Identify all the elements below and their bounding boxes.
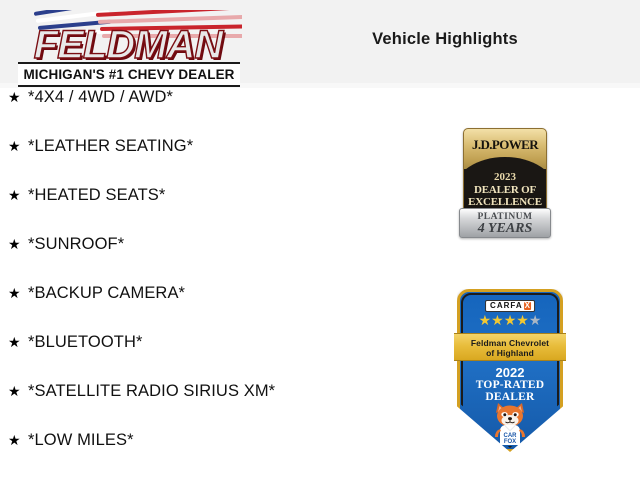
jdpower-award-badge: J.D.POWER 2023 DEALER OF EXCELLENCE PLAT… [459,128,549,236]
jdpower-plaque: J.D.POWER 2023 DEALER OF EXCELLENCE [463,128,547,218]
carfax-star-rating: ★★★★★ [457,313,563,327]
jdpower-year: 2023 [464,171,546,183]
list-item: ★ *SATELLITE RADIO SIRIUS XM* [0,382,400,431]
jdpower-brand-label: J.D.POWER [464,137,546,153]
list-item-label: *LOW MILES* [28,431,134,450]
star-icon: ★ [8,188,28,202]
star-icon: ★ [8,286,28,300]
star-icon: ★ [504,312,517,328]
star-icon: ★ [8,384,28,398]
carfax-year: 2022 [457,365,563,380]
star-icon-dim: ★ [529,312,542,328]
dealer-logo[interactable]: FELDMAN MICHIGAN'S #1 CHEVY DEALER [12,4,244,84]
star-icon: ★ [8,139,28,153]
carfax-dealer-name-line-1: Feldman Chevrolet [454,338,566,348]
list-item-label: *LEATHER SEATING* [28,137,193,156]
page-title: Vehicle Highlights [300,30,590,49]
star-icon: ★ [8,335,28,349]
list-item: ★ *4X4 / 4WD / AWD* [0,88,400,137]
star-icon: ★ [479,312,492,328]
list-item-label: *HEATED SEATS* [28,186,165,205]
jdpower-pedestal: PLATINUM 4 YEARS [459,208,551,238]
dealer-logo-tagline-bar: MICHIGAN'S #1 CHEVY DEALER [18,62,240,87]
list-item: ★ *HEATED SEATS* [0,186,400,235]
carfax-dealer-name-line-2: of Highland [454,348,566,358]
svg-text:FOX: FOX [504,439,516,445]
list-item: ★ *LEATHER SEATING* [0,137,400,186]
jdpower-award-line-1: DEALER OF [464,184,546,196]
carfax-logo: CARFA X [485,300,535,312]
jdpower-duration-label: 4 YEARS [460,221,550,237]
jdpower-award-line-2: EXCELLENCE [464,196,546,208]
dealer-logo-wordmark: FELDMAN [12,23,244,67]
carfax-logo-text: CARFA [490,302,523,310]
carfax-logo-accent: X [524,302,531,310]
vehicle-highlights-list: ★ *4X4 / 4WD / AWD* ★ *LEATHER SEATING* … [0,88,400,480]
carfax-top-rated-dealer-badge: CARFA X ★★★★★ Feldman Chevrolet of Highl… [457,289,563,452]
star-icon: ★ [8,433,28,447]
list-item: ★ *SUNROOF* [0,235,400,284]
carfax-award-line-1: TOP-RATED [457,379,563,391]
star-icon: ★ [8,237,28,251]
list-item-label: *BACKUP CAMERA* [28,284,185,303]
star-icon: ★ [516,312,529,328]
carfax-dealer-ribbon: Feldman Chevrolet of Highland [454,333,566,361]
list-item-label: *SATELLITE RADIO SIRIUS XM* [28,382,275,401]
list-item: ★ *BACKUP CAMERA* [0,284,400,333]
list-item-label: *SUNROOF* [28,235,124,254]
list-item-label: *BLUETOOTH* [28,333,143,352]
dealer-logo-tagline: MICHIGAN'S #1 CHEVY DEALER [23,67,234,82]
list-item: ★ *LOW MILES* [0,431,400,480]
star-icon: ★ [8,90,28,104]
car-fox-mascot-icon: CAR FOX [488,401,532,447]
list-item-label: *4X4 / 4WD / AWD* [28,88,173,107]
list-item: ★ *BLUETOOTH* [0,333,400,382]
star-icon: ★ [491,312,504,328]
